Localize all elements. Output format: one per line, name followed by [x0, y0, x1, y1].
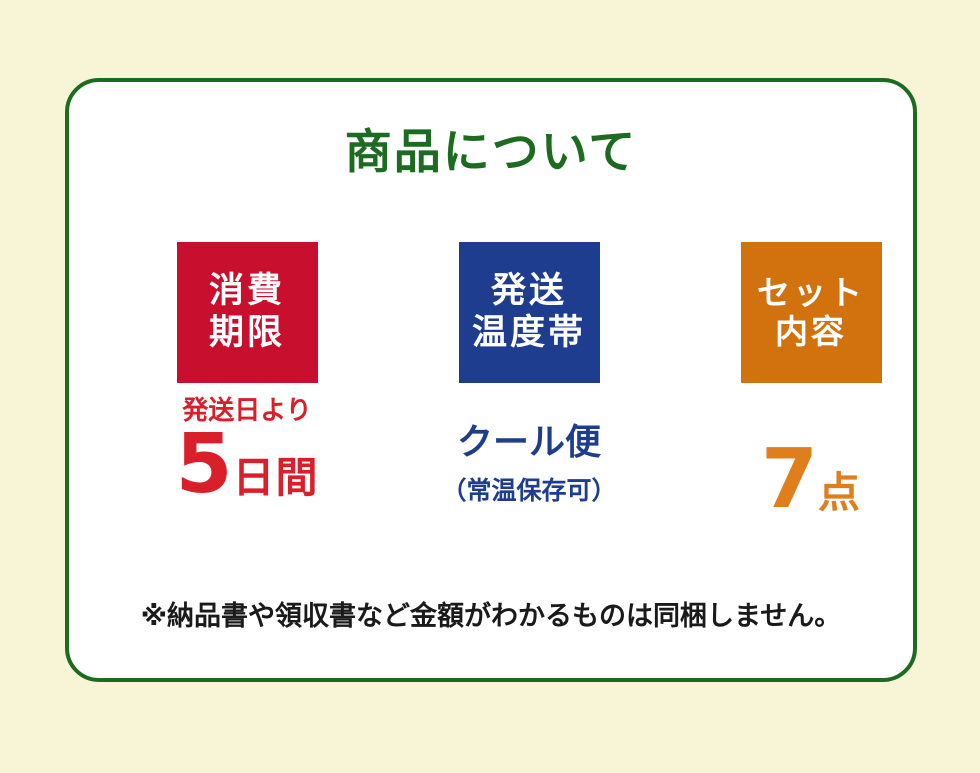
page-title: 商品について [69, 129, 913, 176]
badge-expiration-line1: 消費 [209, 271, 285, 312]
expiration-value: 5 [175, 426, 232, 504]
set-contents-value-line: 7 点 [681, 441, 941, 519]
shipping-temperature-value: クール便 [399, 423, 659, 463]
badge-shipping-temperature-line1: 発送 [491, 271, 567, 312]
product-info-banner: 商品について 消費 期限 発送日より 5 日間 発送 [0, 0, 980, 773]
info-card: 商品について 消費 期限 発送日より 5 日間 発送 [65, 78, 917, 682]
set-contents-value: 7 [761, 441, 818, 519]
spacer [399, 397, 659, 423]
footer-note: ※納品書や領収書など金額がわかるものは同梱しません。 [69, 594, 913, 633]
badge-set-contents-line2: 内容 [775, 313, 847, 352]
spec-column-expiration: 消費 期限 発送日より 5 日間 [117, 242, 377, 503]
badge-shipping-temperature-line2: 温度帯 [472, 313, 586, 354]
badge-expiration: 消費 期限 [177, 242, 318, 383]
spec-column-shipping-temperature: 発送 温度帯 クール便 （常温保存可） [399, 242, 659, 507]
badge-set-contents-line1: セット [757, 274, 865, 313]
set-contents-details: 7 点 [681, 397, 941, 519]
expiration-details: 発送日より 5 日間 [117, 397, 377, 503]
spec-columns: 消費 期限 発送日より 5 日間 発送 温度帯 [69, 242, 913, 582]
shipping-temperature-note: （常温保存可） [399, 471, 659, 507]
badge-set-contents: セット 内容 [741, 242, 882, 383]
badge-shipping-temperature: 発送 温度帯 [459, 242, 600, 383]
set-contents-unit: 点 [818, 472, 861, 514]
badge-expiration-line2: 期限 [209, 313, 285, 354]
expiration-value-line: 5 日間 [117, 426, 377, 504]
expiration-unit: 日間 [233, 457, 319, 499]
shipping-temperature-details: クール便 （常温保存可） [399, 397, 659, 507]
spec-column-set-contents: セット 内容 7 点 [681, 242, 941, 519]
expiration-lead-text: 発送日より [117, 397, 377, 426]
